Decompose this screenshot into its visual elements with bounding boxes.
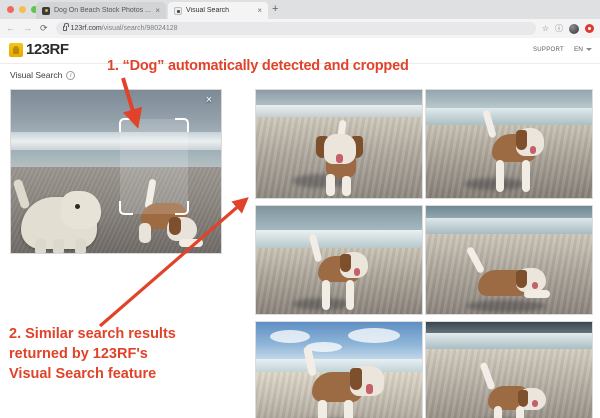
site-logo[interactable]: 123RF xyxy=(9,42,69,57)
tab-dog-on-beach-stock-photos[interactable]: Dog On Beach Stock Photos ... × xyxy=(36,2,166,19)
tab-bar: Dog On Beach Stock Photos ... × Visual S… xyxy=(0,0,600,19)
tab-label: Visual Search xyxy=(186,7,253,14)
result-thumbnail[interactable] xyxy=(255,205,423,315)
surf-layer xyxy=(426,333,592,350)
new-tab-button[interactable]: + xyxy=(272,4,278,15)
leg-shape xyxy=(179,239,203,247)
avatar[interactable] xyxy=(569,24,579,34)
beagle-subject xyxy=(482,116,556,194)
browser-chrome: Dog On Beach Stock Photos ... × Visual S… xyxy=(0,0,600,38)
leg-shape xyxy=(53,239,64,254)
info-icon[interactable]: i xyxy=(66,71,75,80)
address-bar[interactable]: 123rf.com/visual/search/98024128 xyxy=(56,22,536,35)
crop-handle-top-left[interactable] xyxy=(119,118,133,132)
search-results-grid xyxy=(255,89,593,418)
crop-selection-box[interactable] xyxy=(120,119,188,214)
eye-shape xyxy=(75,204,80,209)
annotation-one-text: 1. “Dog” automatically detected and crop… xyxy=(107,58,409,74)
beagle-subject xyxy=(306,242,382,312)
crop-handle-bottom-right[interactable] xyxy=(175,201,189,215)
language-label: EN xyxy=(574,46,583,53)
cloud-shape xyxy=(348,328,400,343)
annotation-two-line-3: Visual Search feature xyxy=(9,364,176,384)
header-nav: SUPPORT EN xyxy=(533,46,592,53)
page-title-label: Visual Search xyxy=(10,70,62,80)
info-circle-icon[interactable]: ⓘ xyxy=(555,25,563,33)
beagle-subject xyxy=(480,374,554,418)
chevron-down-icon xyxy=(586,48,592,51)
favicon-icon xyxy=(42,7,50,15)
favicon-icon xyxy=(174,7,182,15)
tab-close-icon[interactable]: × xyxy=(155,7,160,15)
url-text: 123rf.com/visual/search/98024128 xyxy=(71,25,178,32)
leg-shape xyxy=(139,223,151,243)
result-thumbnail[interactable] xyxy=(255,89,423,199)
url-path: /visual/search/98024128 xyxy=(102,25,178,32)
page-title: Visual Search i xyxy=(10,70,75,80)
annotation-two-line-1: 2. Similar search results xyxy=(9,324,176,344)
tab-close-icon[interactable]: × xyxy=(257,7,262,15)
forward-icon[interactable]: → xyxy=(23,24,32,33)
minimize-window-button[interactable] xyxy=(19,6,26,13)
surf-layer xyxy=(426,218,592,235)
annotation-two-line-2: returned by 123RF's xyxy=(9,344,176,364)
url-domain: 123rf.com xyxy=(71,25,102,32)
cloud-shape xyxy=(270,330,310,343)
crop-handle-bottom-left[interactable] xyxy=(119,201,133,215)
result-thumbnail[interactable] xyxy=(425,89,593,199)
window-controls xyxy=(7,6,38,13)
back-icon[interactable]: ← xyxy=(6,24,15,33)
close-icon[interactable]: × xyxy=(203,94,215,106)
crop-handle-top-right[interactable] xyxy=(175,118,189,132)
tab-visual-search[interactable]: Visual Search × xyxy=(168,2,268,19)
tab-label: Dog On Beach Stock Photos ... xyxy=(54,7,151,14)
browser-window: Dog On Beach Stock Photos ... × Visual S… xyxy=(0,0,600,418)
beagle-subject xyxy=(308,124,378,196)
toolbar-icons: ☆ ⓘ xyxy=(542,24,594,34)
language-selector[interactable]: EN xyxy=(574,46,592,53)
navigation-toolbar: ← → ⟳ 123rf.com/visual/search/98024128 ☆… xyxy=(0,19,600,38)
result-thumbnail[interactable] xyxy=(425,321,593,418)
leg-shape xyxy=(75,239,86,254)
query-image-panel[interactable]: × xyxy=(10,89,222,254)
logo-mark-icon xyxy=(9,43,23,57)
head-shape xyxy=(61,191,101,229)
beagle-subject xyxy=(298,352,390,418)
leg-shape xyxy=(35,239,46,254)
logo-text: 123RF xyxy=(26,42,69,57)
query-image xyxy=(11,90,221,253)
ear-shape xyxy=(169,217,181,235)
reload-icon[interactable]: ⟳ xyxy=(40,24,48,33)
result-thumbnail[interactable] xyxy=(255,321,423,418)
support-link[interactable]: SUPPORT xyxy=(533,47,564,53)
star-icon[interactable]: ☆ xyxy=(542,25,549,33)
close-window-button[interactable] xyxy=(7,6,14,13)
annotation-two-text: 2. Similar search results returned by 12… xyxy=(9,324,176,384)
result-thumbnail[interactable] xyxy=(425,205,593,315)
extension-icon[interactable] xyxy=(585,24,594,33)
lock-icon xyxy=(63,26,67,31)
white-terrier-subject xyxy=(17,161,109,253)
beagle-subject xyxy=(470,256,556,310)
